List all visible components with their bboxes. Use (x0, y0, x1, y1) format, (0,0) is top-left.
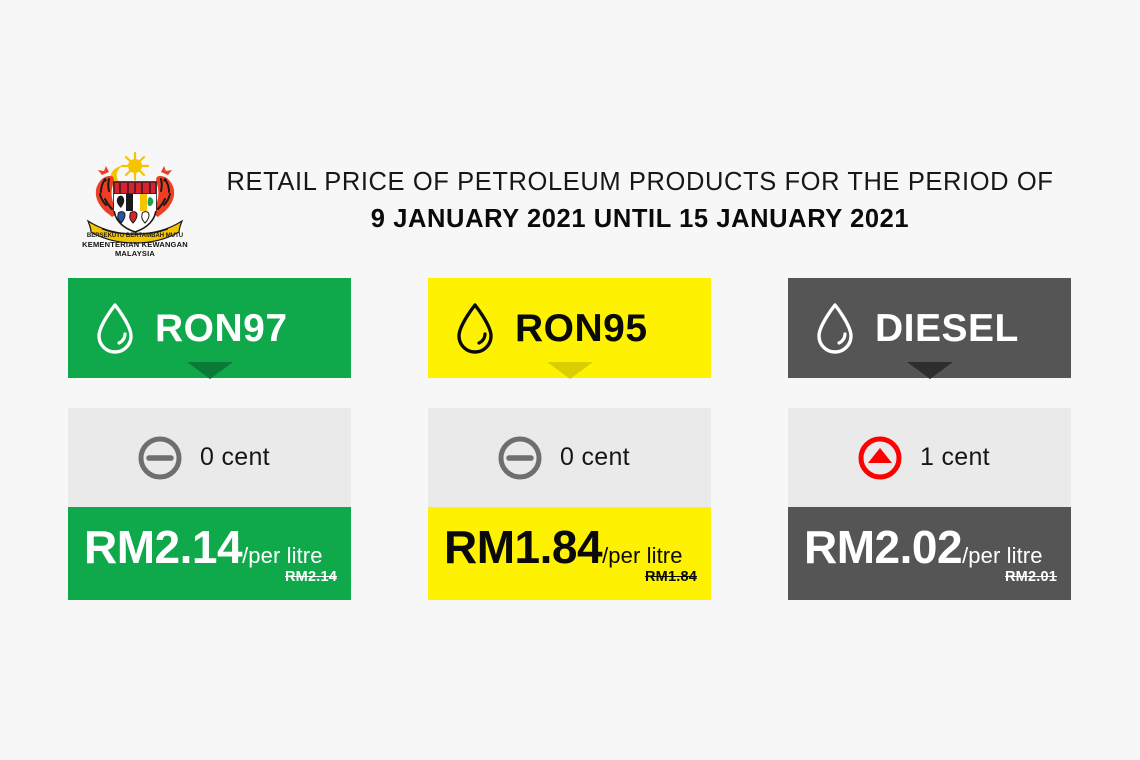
price-change-row: 0 cent (68, 408, 351, 507)
price-row: RM2.14 /per litre RM2.14 (68, 507, 351, 600)
emblem-caption-line1: KEMENTERIAN KEWANGAN (78, 240, 192, 249)
circle-minus-icon (136, 434, 184, 482)
circle-triangle-up-icon (856, 434, 904, 482)
product-plate: RON95 (428, 278, 711, 378)
title-line-1: RETAIL PRICE OF PETROLEUM PRODUCTS FOR T… (200, 168, 1080, 197)
previous-price: RM2.14 (285, 569, 337, 585)
price-card-ron97: RON97 0 cent RM2.14 /per litre RM2.14 (68, 278, 351, 600)
price-card-diesel: DIESEL 1 cent RM2.02 /per litre RM2.01 (788, 278, 1071, 600)
price-change-label: 1 cent (920, 443, 990, 472)
product-plate: DIESEL (788, 278, 1071, 378)
infographic-header: BERSEKUTU BERTAMBAH MUTU KEMENTERIAN KEW… (0, 140, 1140, 260)
price-row: RM2.02 /per litre RM2.01 (788, 507, 1071, 600)
product-name: RON97 (155, 309, 288, 348)
price-change-row: 0 cent (428, 408, 711, 507)
product-name: DIESEL (875, 309, 1019, 348)
price-cards: RON97 0 cent RM2.14 /per litre RM2.14 RO… (68, 278, 1072, 608)
svg-text:BERSEKUTU BERTAMBAH MUTU: BERSEKUTU BERTAMBAH MUTU (87, 233, 183, 239)
price-unit: /per litre (602, 545, 682, 567)
price-unit: /per litre (962, 545, 1042, 567)
fuel-droplet-icon (94, 302, 136, 354)
price-card-ron95: RON95 0 cent RM1.84 /per litre RM1.84 (428, 278, 711, 600)
title-line-2: 9 JANUARY 2021 UNTIL 15 JANUARY 2021 (200, 205, 1080, 234)
fuel-droplet-icon (454, 302, 496, 354)
page-title: RETAIL PRICE OF PETROLEUM PRODUCTS FOR T… (200, 168, 1080, 234)
price-row: RM1.84 /per litre RM1.84 (428, 507, 711, 600)
plate-pointer (547, 362, 593, 379)
plate-pointer (187, 362, 233, 379)
previous-price: RM2.01 (1005, 569, 1057, 585)
previous-price: RM1.84 (645, 569, 697, 585)
plate-pointer (907, 362, 953, 379)
price-unit: /per litre (242, 545, 322, 567)
price-change-row: 1 cent (788, 408, 1071, 507)
product-name: RON95 (515, 309, 648, 348)
emblem-caption: KEMENTERIAN KEWANGAN MALAYSIA (78, 240, 192, 259)
price-change-label: 0 cent (200, 443, 270, 472)
circle-minus-icon (496, 434, 544, 482)
fuel-droplet-icon (814, 302, 856, 354)
price-change-label: 0 cent (560, 443, 630, 472)
price-amount: RM2.02 (804, 524, 962, 570)
emblem-caption-line2: MALAYSIA (78, 249, 192, 258)
product-plate: RON97 (68, 278, 351, 378)
price-amount: RM2.14 (84, 524, 242, 570)
price-amount: RM1.84 (444, 524, 602, 570)
